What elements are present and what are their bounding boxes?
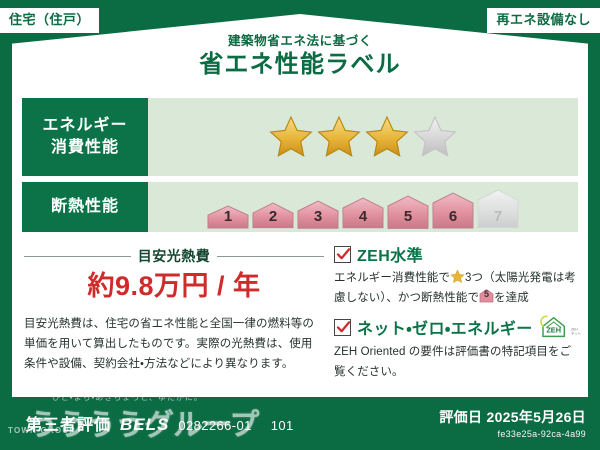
insulation-rating-value: 1234567 <box>148 182 578 232</box>
zeh-netzero-title-row: ネット・ゼロ・エネルギー ZEH ZEH ネット <box>334 314 583 340</box>
label-energy-line2: 消費性能 <box>51 137 119 159</box>
insulation-level-number: 5 <box>387 208 429 225</box>
label-insulation-performance: 断熱性能 <box>22 182 148 232</box>
footer-bels-logo: BELS <box>120 415 169 435</box>
footer-date-label: 評価日 <box>439 409 482 425</box>
tag-building-type: 住宅（住戸） <box>0 8 99 33</box>
footer-certificate-id: 0282266-01 <box>178 418 251 433</box>
insulation-level-6: 6 <box>432 192 474 229</box>
label-panel: エネルギー 消費性能 断熱性能 1234567 <box>12 92 588 397</box>
insulation-bar-scale: 1234567 <box>207 185 519 229</box>
insulation-level-2: 2 <box>252 202 294 229</box>
zeh-standard-title-row: ZEH水準 <box>334 242 583 266</box>
tag-renewable-energy: 再エネ設備なし <box>487 8 600 33</box>
rule-right <box>217 256 324 257</box>
row-insulation-performance: 断熱性能 1234567 <box>22 182 578 232</box>
energy-performance-label: 住宅（住戸） 再エネ設備なし 建築物省エネ法に基づく 省エネ性能ラベル エネルギ… <box>0 0 600 450</box>
insulation-level-3: 3 <box>297 200 339 229</box>
svg-text:ZEH: ZEH <box>546 325 561 334</box>
footer-date-group: 評価日 2025年5月26日 fe33e25a-92ca-4a99 <box>439 407 586 439</box>
insulation-level-number: 1 <box>207 208 249 225</box>
checkbox-zeh-standard[interactable] <box>334 246 351 263</box>
label-energy-performance: エネルギー 消費性能 <box>22 98 148 176</box>
zeh-item-net-zero: ネット・ゼロ・エネルギー ZEH ZEH ネット <box>334 314 583 382</box>
inline-star-icon <box>450 269 465 284</box>
zeh-netzero-description: ZEH Oriented の要件は評価書の特記項目をご覧ください。 <box>334 343 583 382</box>
title-subtitle: 建築物省エネ法に基づく <box>0 34 600 49</box>
rule-left <box>24 256 131 257</box>
page-title: 省エネ性能ラベル <box>0 50 600 80</box>
insulation-level-1: 1 <box>207 205 249 229</box>
label-energy-line1: エネルギー <box>42 115 127 137</box>
insulation-level-5: 5 <box>387 195 429 229</box>
cost-value: 約9.8万円 / 年 <box>24 272 324 302</box>
insulation-level-4: 4 <box>342 197 384 229</box>
insulation-level-number: 2 <box>252 208 294 225</box>
row-energy-performance: エネルギー 消費性能 <box>22 98 578 176</box>
insulation-level-number: 4 <box>342 208 384 225</box>
zeh-item-standard: ZEH水準 エネルギー消費性能で 3つ（太陽光発電は考慮しない）、かつ断熱性能で… <box>334 242 583 308</box>
footer-unit-number: 101 <box>261 418 294 433</box>
zeh-house-logo-icon: ZEH ZEH ネット <box>539 314 583 340</box>
cost-heading-row: 目安光熱費 <box>24 246 324 266</box>
cost-section: 目安光熱費 約9.8万円 / 年 目安光熱費は、住宅の省エネ性能と全国一律の燃料… <box>24 242 324 388</box>
title-group: 建築物省エネ法に基づく 省エネ性能ラベル <box>0 34 600 80</box>
insulation-level-7: 7 <box>477 189 519 229</box>
label-header: 住宅（住戸） 再エネ設備なし 建築物省エネ法に基づく 省エネ性能ラベル <box>0 0 600 92</box>
zeh-desc-part3: を達成 <box>494 292 529 304</box>
footer-date-value: 2025年5月26日 <box>486 409 586 425</box>
zeh-section: ZEH水準 エネルギー消費性能で 3つ（太陽光発電は考慮しない）、かつ断熱性能で… <box>324 242 583 388</box>
svg-text:ネット: ネット <box>571 330 581 335</box>
star-filled-icon <box>364 114 410 160</box>
rating-rows: エネルギー 消費性能 断熱性能 1234567 <box>12 92 588 232</box>
zeh-netzero-title: ネット・ゼロ・エネルギー <box>357 315 533 339</box>
cost-heading: 目安光熱費 <box>138 246 211 266</box>
cost-note: 目安光熱費は、住宅の省エネ性能と全国一律の燃料等の単価を用いて算出したものです。… <box>24 314 324 374</box>
footer-evaluation-date: 評価日 2025年5月26日 <box>439 407 586 427</box>
star-empty-icon <box>412 114 458 160</box>
label-insulation-line1: 断熱性能 <box>51 196 119 218</box>
energy-rating-value <box>148 98 578 176</box>
zeh-desc-part1: エネルギー消費性能で <box>334 272 450 284</box>
footer-evaluation-group: 第三者評価 BELS 0282266-01 101 <box>26 411 294 435</box>
star-filled-icon <box>268 114 314 160</box>
lower-section: 目安光熱費 約9.8万円 / 年 目安光熱費は、住宅の省エネ性能と全国一律の燃料… <box>12 238 588 388</box>
zeh-desc-star-count: 3つ（太陽光発電 <box>465 272 553 284</box>
inline-insulation-badge-icon: 5 <box>479 289 494 303</box>
insulation-level-number: 3 <box>297 208 339 225</box>
footer-hash: fe33e25a-92ca-4a99 <box>439 429 586 439</box>
star-rating <box>268 114 458 160</box>
label-footer: 第三者評価 BELS 0282266-01 101 評価日 2025年5月26日… <box>0 397 600 450</box>
star-filled-icon <box>316 114 362 160</box>
checkbox-zeh-net-zero[interactable] <box>334 319 351 336</box>
inline-badge-number: 5 <box>479 287 494 302</box>
insulation-level-number: 7 <box>477 208 519 225</box>
zeh-standard-title: ZEH水準 <box>357 242 423 266</box>
insulation-level-number: 6 <box>432 208 474 225</box>
zeh-standard-description: エネルギー消費性能で 3つ（太陽光発電は考慮しない）、かつ断熱性能で 5 を達成 <box>334 269 583 308</box>
footer-eval-label: 第三者評価 <box>26 411 111 435</box>
